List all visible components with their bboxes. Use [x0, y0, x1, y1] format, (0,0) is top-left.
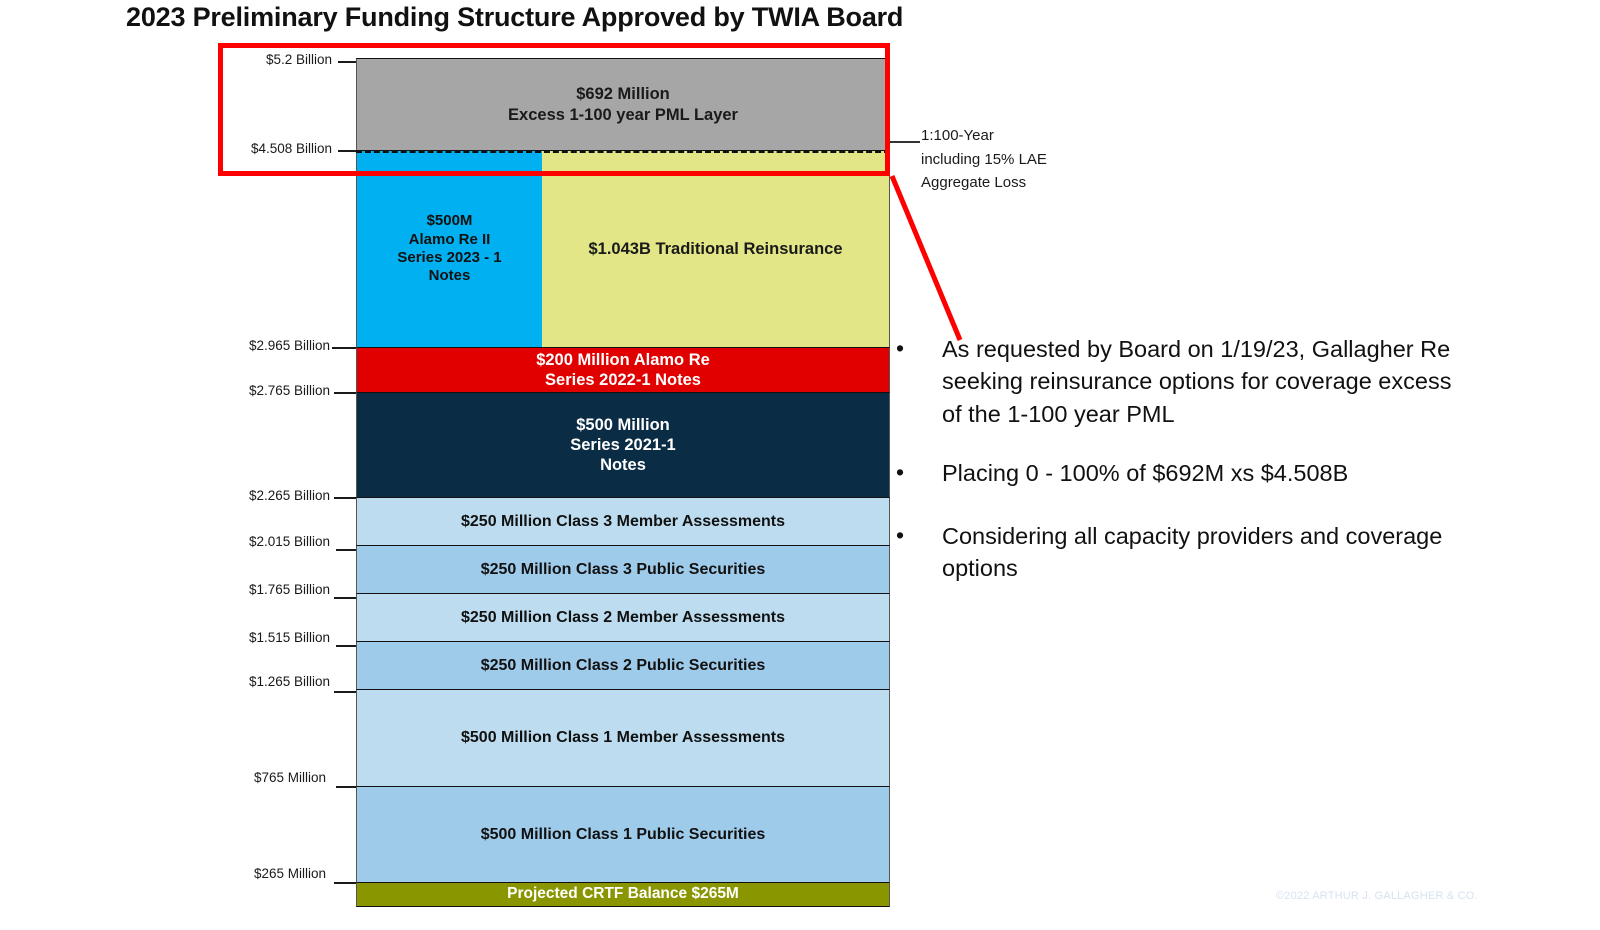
layer-series-2021-notes: Notes: [570, 455, 676, 475]
layer-class2-public-label: $250 Million Class 2 Public Securities: [475, 656, 772, 676]
copyright-footer: ©2022 ARTHUR J. GALLAGHER & CO.: [1276, 890, 1478, 902]
layer-class3-member-label: $250 Million Class 3 Member Assessments: [455, 512, 791, 532]
pml-1-100-dashed-line: [356, 150, 890, 153]
axis-tick-2-265b: [334, 497, 358, 499]
axis-label-1-265b: $1.265 Billion: [178, 674, 330, 689]
bullet-text: As requested by Board on 1/19/23, Gallag…: [942, 333, 1456, 430]
axis-tick-4-508b: [338, 150, 358, 152]
axis-tick-5-2b: [338, 61, 358, 63]
layer-class2-member-assessments[interactable]: $250 Million Class 2 Member Assessments: [356, 593, 890, 641]
layer-alamo-re-ii-notes: Notes: [397, 267, 501, 285]
axis-tick-1-515b: [336, 645, 358, 647]
axis-label-2-265b: $2.265 Billion: [178, 488, 330, 503]
axis-label-1-765b: $1.765 Billion: [178, 582, 330, 597]
axis-tick-2-015b: [336, 549, 358, 551]
axis-tick-1-265b: [334, 691, 358, 693]
layer-class3-public-securities[interactable]: $250 Million Class 3 Public Securities: [356, 545, 890, 593]
bullet-text: Placing 0 - 100% of $692M xs $4.508B: [942, 457, 1456, 489]
callout-connector-line: [860, 150, 1000, 360]
layer-crtf-label: Projected CRTF Balance $265M: [501, 885, 745, 904]
layer-series-2021-amount: $500 Million: [570, 415, 676, 435]
axis-tick-765m: [336, 786, 358, 788]
axis-tick-2-765b: [334, 392, 358, 394]
layer-alamo-re-ii-series: Series 2023 - 1: [397, 249, 501, 267]
bullet-list: • As requested by Board on 1/19/23, Gall…: [896, 333, 1456, 612]
axis-label-5-2b: $5.2 Billion: [180, 52, 332, 67]
layer-class3-public-label: $250 Million Class 3 Public Securities: [475, 560, 772, 580]
bullet-text: Considering all capacity providers and c…: [942, 520, 1456, 585]
axis-tick-2-965b: [332, 347, 358, 349]
layer-excess-pml-amount: $692 Million: [508, 84, 738, 104]
layer-alamo-re-ii-amount: $500M: [397, 212, 501, 230]
axis-label-4-508b: $4.508 Billion: [170, 141, 332, 156]
layer-class1-public-label: $500 Million Class 1 Public Securities: [475, 825, 772, 845]
list-item: • Placing 0 - 100% of $692M xs $4.508B: [896, 457, 1456, 489]
layer-projected-crtf-balance[interactable]: Projected CRTF Balance $265M: [356, 882, 890, 907]
axis-label-2-015b: $2.015 Billion: [178, 534, 330, 549]
pml-annotation-line1: 1:100-Year: [921, 124, 1047, 148]
layer-traditional-reinsurance[interactable]: $1.043B Traditional Reinsurance: [542, 150, 890, 347]
axis-label-2-965b: $2.965 Billion: [178, 338, 330, 353]
layer-excess-pml[interactable]: $692 Million Excess 1-100 year PML Layer: [356, 58, 890, 150]
layer-class1-member-assessments[interactable]: $500 Million Class 1 Member Assessments: [356, 689, 890, 786]
bullet-marker-icon: •: [896, 457, 942, 489]
slide-canvas: 2023 Preliminary Funding Structure Appro…: [0, 0, 1600, 930]
axis-label-2-765b: $2.765 Billion: [178, 383, 330, 398]
axis-label-265m: $265 Million: [178, 866, 326, 881]
page-title: 2023 Preliminary Funding Structure Appro…: [126, 2, 903, 33]
axis-label-765m: $765 Million: [178, 770, 326, 785]
axis-label-1-515b: $1.515 Billion: [178, 630, 330, 645]
layer-class1-public-securities[interactable]: $500 Million Class 1 Public Securities: [356, 786, 890, 882]
funding-structure-stack: $692 Million Excess 1-100 year PML Layer…: [356, 58, 890, 901]
layer-alamo-re-ii-2023[interactable]: $500M Alamo Re II Series 2023 - 1 Notes: [356, 150, 542, 347]
bullet-marker-icon: •: [896, 520, 942, 585]
layer-class2-public-securities[interactable]: $250 Million Class 2 Public Securities: [356, 641, 890, 689]
layer-class1-member-label: $500 Million Class 1 Member Assessments: [455, 728, 791, 748]
layer-alamo-re-2022[interactable]: $200 Million Alamo Re Series 2022-1 Note…: [356, 347, 890, 392]
axis-tick-265m: [334, 882, 358, 884]
layer-class2-member-label: $250 Million Class 2 Member Assessments: [455, 608, 791, 628]
layer-traditional-reinsurance-label: $1.043B Traditional Reinsurance: [582, 239, 848, 259]
layer-alamo-re-ii-name: Alamo Re II: [397, 231, 501, 249]
layer-class3-member-assessments[interactable]: $250 Million Class 3 Member Assessments: [356, 497, 890, 545]
layer-alamo-re-2022-amount: $200 Million Alamo Re: [536, 350, 710, 370]
pml-1-100-leader-line: [890, 141, 920, 143]
layer-alamo-re-2022-series: Series 2022-1 Notes: [536, 370, 710, 390]
list-item: • Considering all capacity providers and…: [896, 520, 1456, 585]
axis-tick-1-765b: [334, 597, 358, 599]
layer-series-2021-1[interactable]: $500 Million Series 2021-1 Notes: [356, 392, 890, 497]
layer-excess-pml-desc: Excess 1-100 year PML Layer: [508, 105, 738, 125]
layer-series-2021-series: Series 2021-1: [570, 435, 676, 455]
